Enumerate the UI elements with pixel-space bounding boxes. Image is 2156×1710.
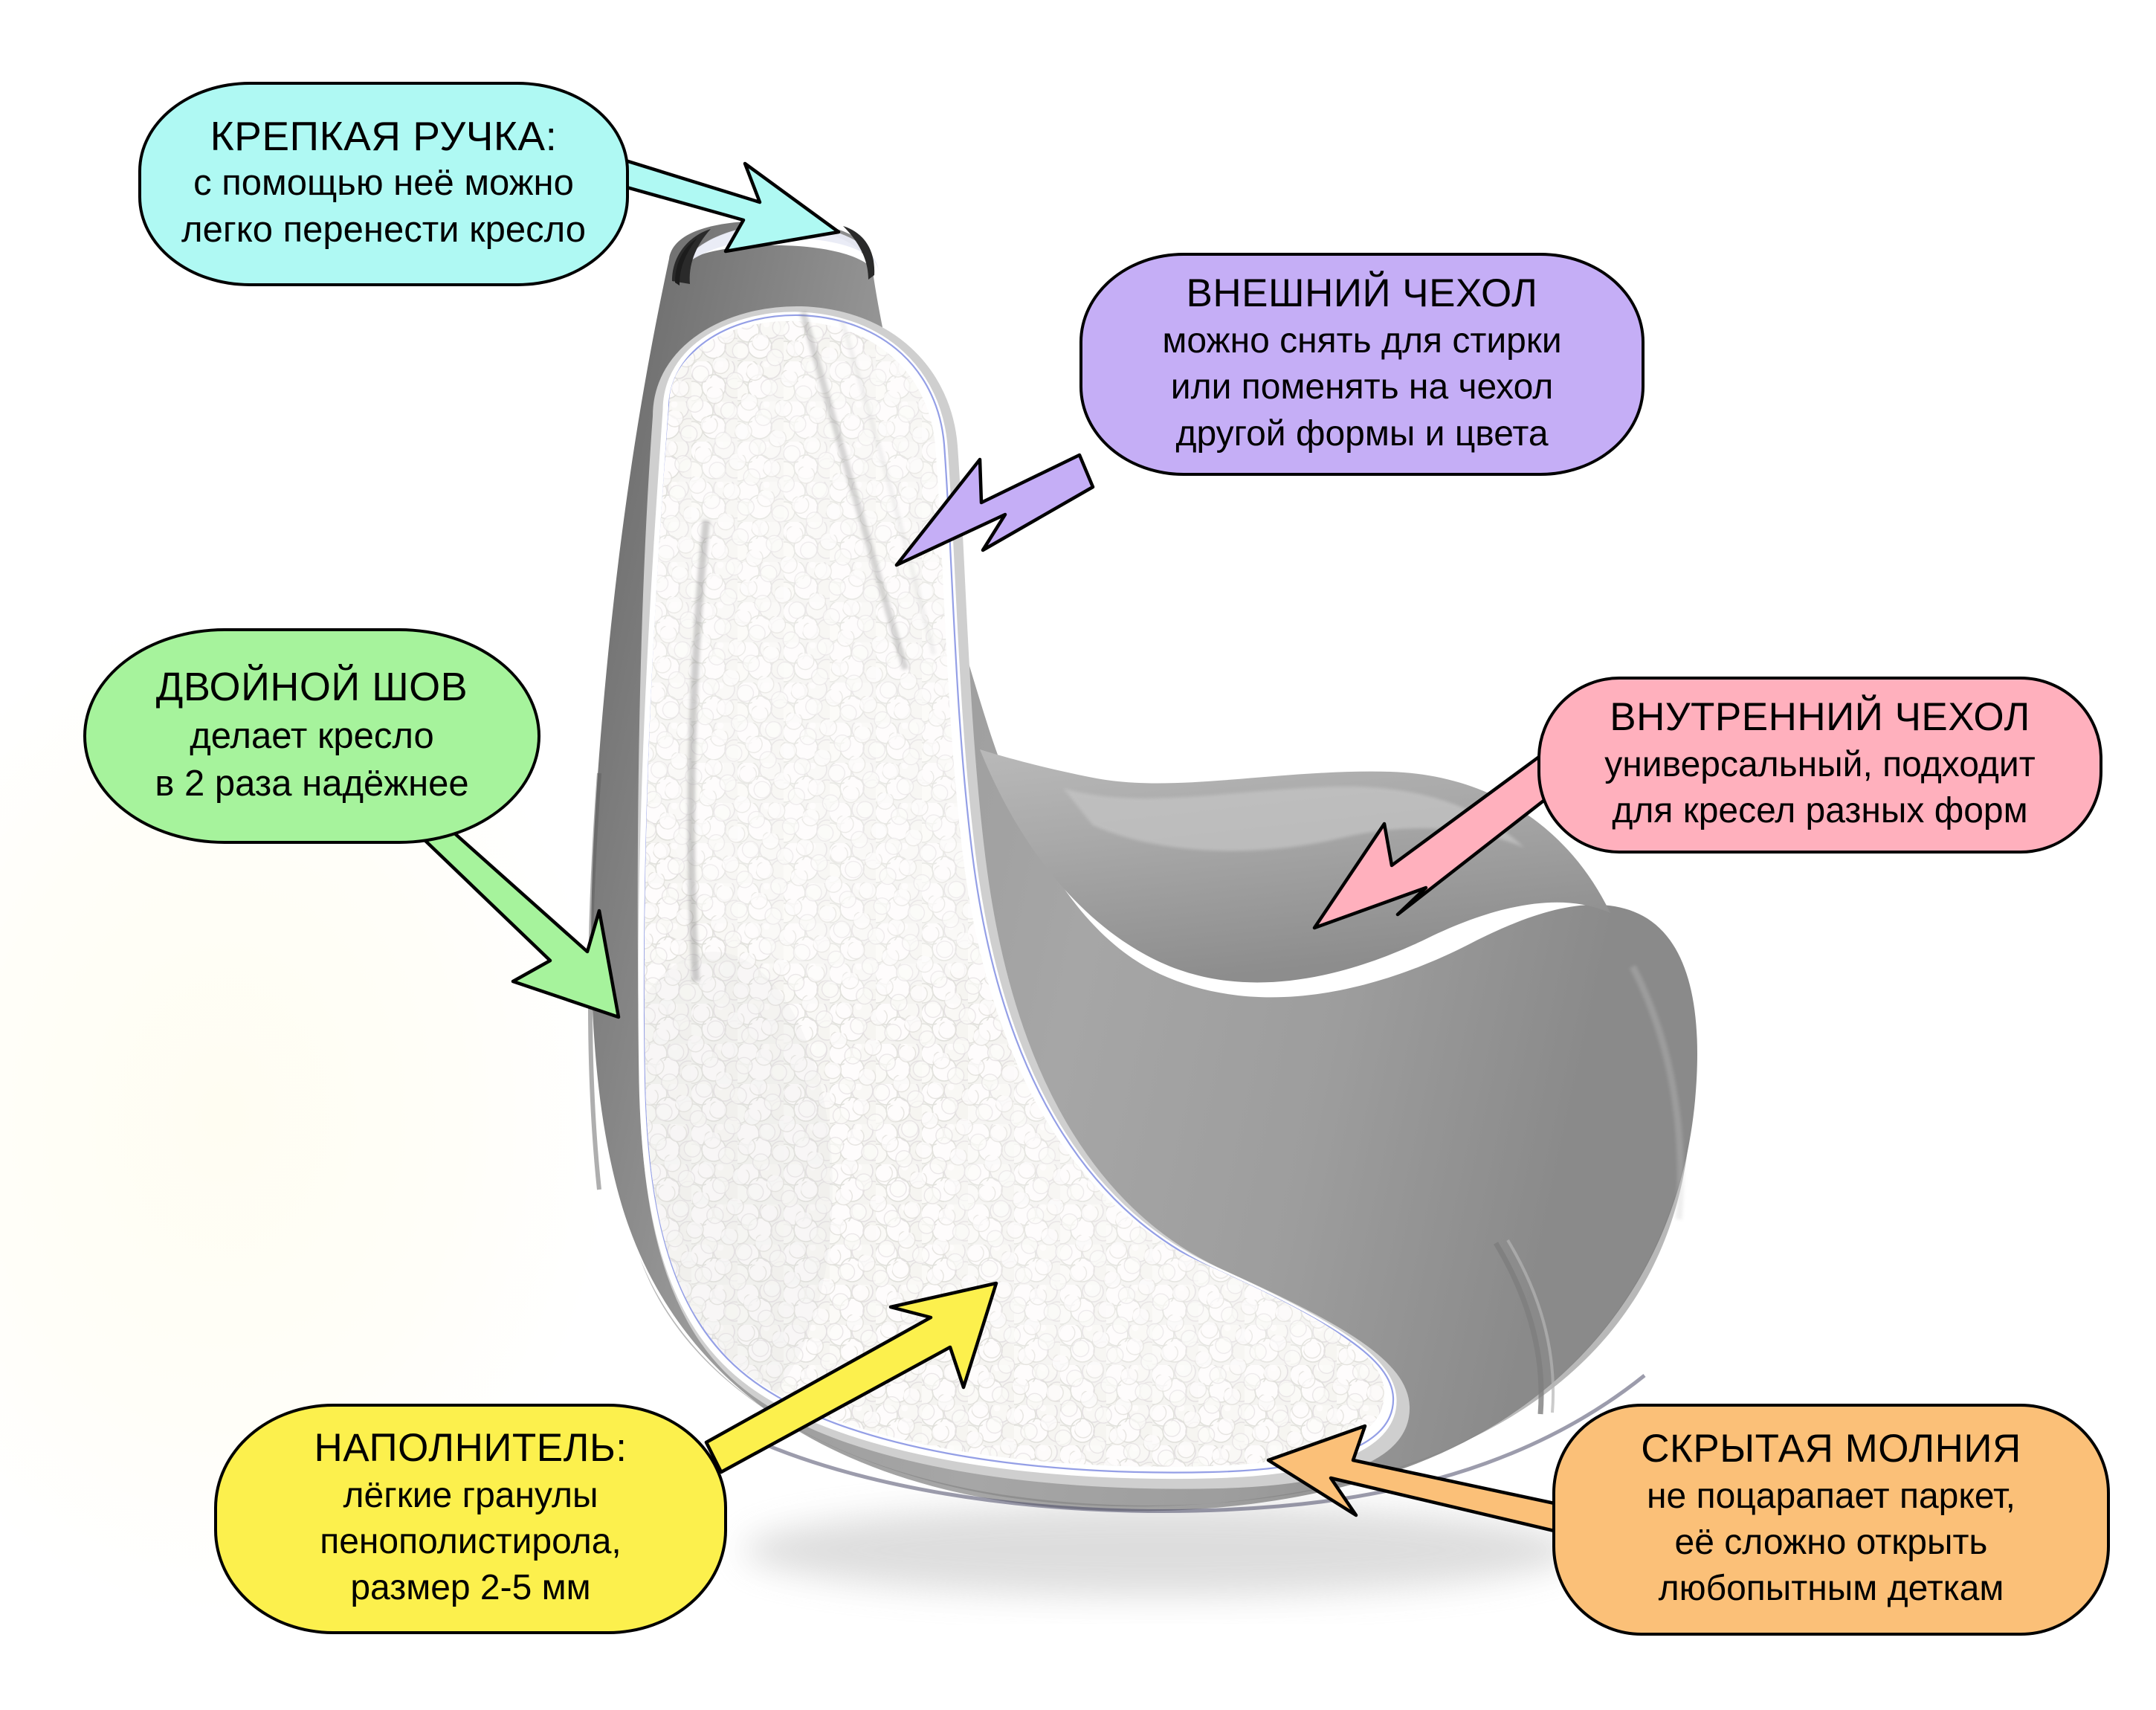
chair-ground-shadow bbox=[743, 1504, 1576, 1596]
infographic-canvas: КРЕПКАЯ РУЧКА: с помощью неё можно легко… bbox=[0, 0, 2156, 1710]
callout-double-seam-title: ДВОЙНОЙ ШОВ bbox=[156, 664, 468, 710]
inner-cover-edge-white bbox=[643, 317, 1392, 1474]
double-seam-line-right-2 bbox=[1508, 1240, 1553, 1413]
callout-hidden-zipper-title: СКРЫТАЯ МОЛНИЯ bbox=[1641, 1427, 2021, 1471]
callout-double-seam-line-1: делает кресло bbox=[190, 713, 434, 761]
callout-hidden-zipper-line-2: её сложно открыть bbox=[1675, 1520, 1988, 1566]
callout-double-seam-line-2: в 2 раза надёжнее bbox=[155, 761, 468, 808]
hidden-zipper-seam bbox=[743, 1375, 1645, 1511]
callout-filler-line-3: размер 2-5 мм bbox=[350, 1565, 590, 1611]
callout-filler-line-2: пенополистирола, bbox=[320, 1519, 622, 1565]
arrow-hidden-zipper bbox=[1268, 1426, 1582, 1536]
callout-inner-cover[interactable]: ВНУТРЕННИЙ ЧЕХОЛ универсальный, подходит… bbox=[1537, 677, 2102, 854]
callout-outer-cover-line-3: другой формы и цвета bbox=[1175, 411, 1548, 457]
polystyrene-bead-filling bbox=[595, 297, 1442, 1517]
callout-outer-cover-line-2: или поменять на чехол bbox=[1171, 364, 1553, 410]
callout-inner-cover-line-1: универсальный, подходит bbox=[1604, 742, 2035, 788]
callout-handle-title: КРЕПКАЯ РУЧКА: bbox=[210, 114, 558, 160]
double-seam-line-right bbox=[1496, 1243, 1541, 1414]
callout-filler-title: НАПОЛНИТЕЛЬ: bbox=[314, 1426, 627, 1471]
callout-hidden-zipper-line-1: не поцарапает паркет, bbox=[1647, 1474, 2015, 1520]
callout-outer-cover-title: ВНЕШНИЙ ЧЕХОЛ bbox=[1187, 271, 1538, 317]
callout-outer-cover[interactable]: ВНЕШНИЙ ЧЕХОЛ можно снять для стирки или… bbox=[1079, 253, 1645, 476]
callout-double-seam[interactable]: ДВОЙНОЙ ШОВ делает кресло в 2 раза надёж… bbox=[83, 628, 540, 844]
arrow-outer-cover bbox=[897, 455, 1093, 565]
callout-hidden-zipper-line-3: любопытным деткам bbox=[1659, 1566, 2004, 1612]
inner-cover-edge-outer bbox=[644, 312, 1404, 1483]
seat-roll bbox=[980, 749, 1610, 982]
arrow-inner-cover bbox=[1314, 757, 1560, 928]
callout-filler-line-1: лёгкие гранулы bbox=[343, 1473, 598, 1519]
callout-filler[interactable]: НАПОЛНИТЕЛЬ: лёгкие гранулы пенополистир… bbox=[214, 1404, 727, 1634]
callout-inner-cover-line-2: для кресел разных форм bbox=[1612, 788, 2027, 834]
carry-handle bbox=[672, 225, 879, 285]
double-seam-line-left bbox=[590, 773, 599, 1190]
callout-handle-line-2: легко перенести кресло bbox=[181, 207, 586, 254]
seat-roll-highlight bbox=[1063, 787, 1524, 851]
base-roll bbox=[639, 1138, 1689, 1506]
inner-cover-edge-blue-stitch bbox=[645, 315, 1393, 1473]
arrow-filler bbox=[706, 1283, 996, 1472]
callout-inner-cover-title: ВНУТРЕННИЙ ЧЕХОЛ bbox=[1610, 695, 2030, 740]
callout-handle[interactable]: КРЕПКАЯ РУЧКА: с помощью неё можно легко… bbox=[138, 82, 629, 286]
callout-handle-line-1: с помощью неё можно bbox=[193, 160, 574, 207]
callout-outer-cover-line-1: можно снять для стирки bbox=[1162, 318, 1561, 364]
callout-hidden-zipper[interactable]: СКРЫТАЯ МОЛНИЯ не поцарапает паркет, её … bbox=[1552, 1404, 2110, 1636]
